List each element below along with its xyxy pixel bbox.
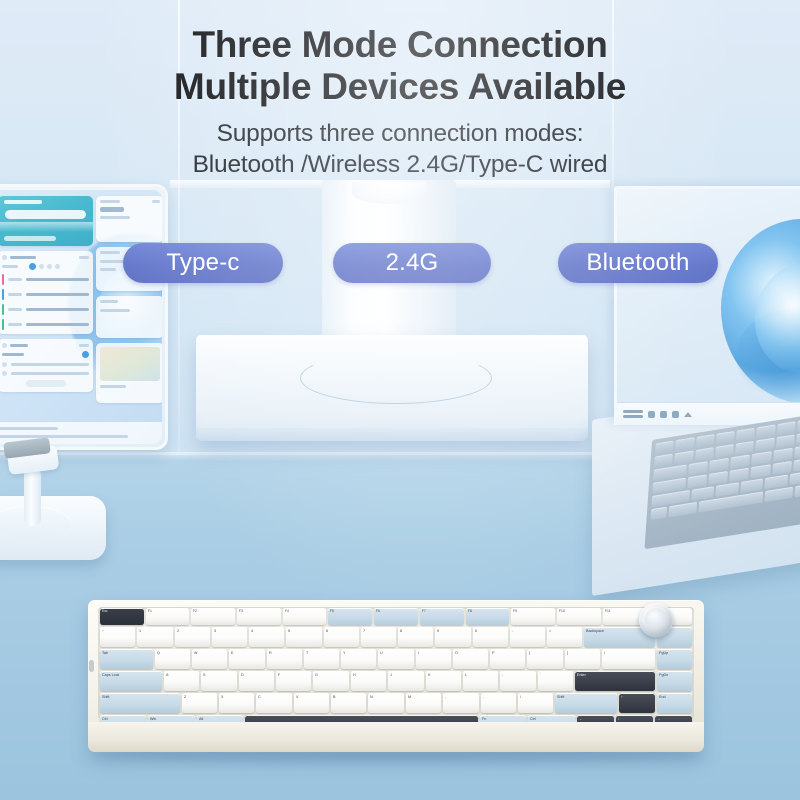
todo-item[interactable] [2, 362, 89, 367]
widget-search-image [0, 222, 93, 232]
chevron-up-icon[interactable] [684, 412, 692, 417]
keyboard-row-number-row: ~1234567890-=BackspaceDelet [100, 627, 692, 647]
widget-calendar-more[interactable] [79, 256, 89, 259]
key-f5[interactable]: F5 [328, 608, 372, 625]
key-legend: L [465, 673, 467, 677]
key-m[interactable]: M [406, 693, 441, 713]
tablet-device [0, 184, 168, 450]
key-legend: 3 [214, 629, 216, 633]
key-shift[interactable]: Shift [555, 693, 617, 713]
key-legend: Enter [577, 673, 586, 677]
key-legend: K [428, 673, 430, 677]
key-legend: 5 [288, 629, 290, 633]
key-f4[interactable]: F4 [283, 608, 327, 625]
calendar-event[interactable] [2, 304, 89, 315]
monitor-stand-base-ring [300, 352, 492, 404]
key-legend: F6 [376, 610, 380, 613]
key-space[interactable]: ↑ [619, 693, 654, 713]
key-t[interactable]: T [304, 649, 339, 669]
widgets-column-secondary [96, 196, 162, 403]
key-b[interactable]: B [331, 693, 366, 713]
key-legend: = [549, 629, 551, 633]
key-tab[interactable]: Tab [100, 649, 153, 669]
key-z[interactable]: Z [182, 693, 217, 713]
key-k[interactable]: K [426, 671, 461, 691]
keyboard-front-bezel [88, 722, 704, 752]
widget-photo-card[interactable] [96, 343, 162, 403]
tablet-screen [0, 190, 162, 444]
key-space[interactable]: [ [527, 649, 562, 669]
key-legend: ← [579, 717, 583, 721]
key-legend: ↑ [621, 695, 623, 699]
weather-more[interactable] [152, 200, 160, 203]
key-legend: - [512, 629, 513, 633]
key-legend: P [492, 651, 494, 655]
todo-text [11, 363, 89, 366]
key-f[interactable]: F [276, 671, 311, 691]
key-legend: Z [184, 695, 186, 699]
key-shift[interactable]: Shift [100, 693, 180, 713]
key-f8[interactable]: F8 [466, 608, 510, 625]
calendar-event[interactable] [2, 274, 89, 285]
key-legend: PgDn [659, 673, 668, 677]
widget-calendar-header [2, 255, 89, 260]
todo-text [11, 372, 89, 375]
calendar-event[interactable] [2, 319, 89, 330]
subheadline-line-2: Bluetooth /Wireless 2.4G/Type-C wired [0, 149, 800, 180]
key-legend: Y [343, 651, 345, 655]
key-8[interactable]: 8 [398, 627, 433, 647]
widget-weather-card[interactable] [96, 196, 162, 242]
widget-search-card[interactable] [0, 196, 93, 246]
key-legend: O [455, 651, 458, 655]
key-legend: F [278, 673, 280, 677]
widget-todo-more[interactable] [79, 344, 89, 347]
widget-search-footer [4, 236, 56, 241]
key-space[interactable]: ; [500, 671, 535, 691]
key-legend: 0 [475, 629, 477, 633]
key-j[interactable]: J [388, 671, 423, 691]
key-legend: F11 [605, 610, 610, 613]
todo-list-name [2, 353, 24, 356]
key-x[interactable]: X [219, 693, 254, 713]
widget-traffic-card[interactable] [96, 296, 162, 338]
calendar-day[interactable] [47, 264, 52, 269]
weather-condition [100, 216, 130, 219]
key-legend: U [380, 651, 383, 655]
sports-title [100, 251, 120, 254]
key-space[interactable]: . [481, 693, 516, 713]
key-legend: W [194, 651, 197, 655]
key-c[interactable]: C [256, 693, 291, 713]
event-color-bar [2, 304, 4, 315]
key-space[interactable]: ~ [100, 627, 135, 647]
key-l[interactable]: L [463, 671, 498, 691]
todo-item[interactable] [2, 371, 89, 376]
event-title [26, 308, 89, 311]
key-legend: V [296, 695, 298, 699]
taskbar-clock[interactable] [623, 410, 643, 418]
key-f3[interactable]: F3 [237, 608, 281, 625]
key-f1[interactable]: F1 [146, 608, 190, 625]
key-pgup[interactable]: PgUp [657, 649, 692, 669]
key-legend: \ [604, 651, 605, 655]
todo-list-header [2, 351, 89, 358]
traffic-title [100, 300, 118, 303]
key-space[interactable]: - [510, 627, 545, 647]
key-g[interactable]: G [313, 671, 348, 691]
news-subline [0, 435, 128, 438]
key-legend: ~ [102, 629, 104, 633]
subheadline-line-1: Supports three connection modes: [217, 120, 584, 147]
key-legend: → [657, 717, 661, 721]
event-time [8, 293, 22, 296]
widget-calendar-title [10, 256, 36, 259]
key-7[interactable]: 7 [361, 627, 396, 647]
widget-calendar-card[interactable] [0, 251, 93, 334]
widget-todo-title [10, 344, 28, 347]
key-9[interactable]: 9 [435, 627, 470, 647]
key-legend: Ctrl [102, 717, 108, 721]
key-legend: Q [157, 651, 160, 655]
key-y[interactable]: Y [341, 649, 376, 669]
event-title [26, 293, 89, 296]
key-legend: F2 [193, 610, 197, 613]
key-legend: F8 [468, 610, 472, 613]
calendar-day[interactable] [39, 264, 44, 269]
key-legend: 9 [437, 629, 439, 633]
key-w[interactable]: W [192, 649, 227, 669]
key-space[interactable]: ] [565, 649, 600, 669]
news-headline [0, 427, 58, 430]
key-space[interactable]: ' [538, 671, 573, 691]
add-widgets-button[interactable] [26, 380, 66, 387]
key-legend: J [390, 673, 392, 677]
monitor-stand-column-highlight [352, 182, 426, 204]
keyboard-row-qwerty-row: TabQWERTYUIOP[]\PgUp [100, 649, 692, 669]
key-p[interactable]: P [490, 649, 525, 669]
volume-icon[interactable] [660, 411, 667, 418]
event-color-bar [2, 274, 4, 285]
key-legend: F9 [513, 610, 517, 613]
sports-line [100, 268, 116, 271]
widget-todo-card[interactable] [0, 339, 93, 392]
key-v[interactable]: V [294, 693, 329, 713]
key-o[interactable]: O [453, 649, 488, 669]
todo-add-button[interactable] [82, 351, 89, 358]
key-legend: H [353, 673, 356, 677]
key-legend: F1 [148, 610, 152, 613]
calendar-month-label [2, 265, 18, 268]
key-q[interactable]: Q [155, 649, 190, 669]
key-a[interactable]: A [164, 671, 199, 691]
key-legend: ↓ [618, 717, 620, 721]
key-space[interactable]: \ [602, 649, 655, 669]
key-u[interactable]: U [378, 649, 413, 669]
key-e[interactable]: E [229, 649, 264, 669]
weather-location [100, 200, 120, 203]
badge-2-4g[interactable]: 2.4G [333, 243, 491, 283]
keyboard-keys[interactable]: EscF1F2F3F4F5F6F7F8F9F10F11F12~123456789… [100, 608, 692, 718]
key-f9[interactable]: F9 [511, 608, 555, 625]
key-r[interactable]: R [267, 649, 302, 669]
key-pgdn[interactable]: PgDn [657, 671, 692, 691]
key-legend: / [520, 695, 521, 699]
key-legend: F10 [559, 610, 565, 613]
key-f6[interactable]: F6 [374, 608, 418, 625]
event-color-bar [2, 289, 4, 300]
headline-line-1: Three Mode Connection [192, 24, 607, 65]
badge-type-c[interactable]: Type-c [123, 243, 283, 283]
key-legend: A [166, 673, 168, 677]
event-time [8, 323, 22, 326]
key-legend: D [241, 673, 244, 677]
key-legend: ' [540, 673, 541, 677]
key-h[interactable]: H [351, 671, 386, 691]
key-legend: Backspace [586, 629, 604, 633]
key-legend: , [445, 695, 446, 699]
todo-checkbox[interactable] [2, 362, 7, 367]
key-legend: ] [567, 651, 568, 655]
key-legend: G [315, 673, 318, 677]
key-legend: Caps Lock [102, 673, 119, 677]
key-legend: F7 [422, 610, 426, 613]
key-5[interactable]: 5 [286, 627, 321, 647]
key-legend: Tab [102, 651, 108, 655]
key-legend: Fn [482, 717, 486, 721]
key-legend: Shift [102, 695, 109, 699]
page-subtitle: Supports three connection modes: Bluetoo… [0, 118, 800, 181]
wifi-icon[interactable] [672, 411, 679, 418]
keyboard-row-function-row: EscF1F2F3F4F5F6F7F8F9F10F11F12 [100, 608, 692, 625]
key-legend: 4 [251, 629, 253, 633]
key-legend: 1 [139, 629, 141, 633]
calendar-icon [2, 255, 7, 260]
calendar-event[interactable] [2, 289, 89, 300]
widget-search-title [4, 200, 42, 204]
key-caps-lock[interactable]: Caps Lock [100, 671, 162, 691]
key-legend: C [258, 695, 261, 699]
key-legend: Win [150, 717, 156, 721]
key-legend: End [659, 695, 666, 699]
key-2[interactable]: 2 [175, 627, 210, 647]
key-s[interactable]: S [201, 671, 236, 691]
key-legend: PgUp [659, 651, 668, 655]
key-legend: Ctrl [530, 717, 536, 721]
event-title [26, 323, 89, 326]
weather-temperature [100, 207, 124, 212]
key-legend: 8 [400, 629, 402, 633]
key-legend: R [269, 651, 272, 655]
product-marketing-image: EscF1F2F3F4F5F6F7F8F9F10F11F12~123456789… [0, 0, 800, 800]
key-space[interactable]: / [518, 693, 553, 713]
widgets-column-primary [0, 196, 93, 392]
key-f7[interactable]: F7 [420, 608, 464, 625]
event-title [26, 278, 89, 281]
key-n[interactable]: N [368, 693, 403, 713]
key-d[interactable]: D [239, 671, 274, 691]
calendar-day-selected[interactable] [29, 263, 36, 270]
traffic-line [100, 309, 130, 312]
key-legend: I [418, 651, 419, 655]
event-color-bar [2, 319, 4, 330]
event-time [8, 308, 22, 311]
key-legend: Esc [102, 610, 108, 613]
photo-thumbnail [100, 347, 160, 381]
key-legend: F4 [285, 610, 289, 613]
key-0[interactable]: 0 [473, 627, 508, 647]
key-4[interactable]: 4 [249, 627, 284, 647]
key-legend: Shift [557, 695, 564, 699]
calendar-day[interactable] [55, 264, 60, 269]
key-6[interactable]: 6 [324, 627, 359, 647]
key-i[interactable]: I [416, 649, 451, 669]
volume-knob-inner[interactable] [645, 608, 667, 630]
key-legend: M [408, 695, 411, 699]
key-legend: 2 [177, 629, 179, 633]
headline-line-2: Multiple Devices Available [0, 66, 800, 108]
key-3[interactable]: 3 [212, 627, 247, 647]
key-legend: 6 [326, 629, 328, 633]
keyboard-side-port [89, 660, 94, 672]
check-icon [2, 343, 7, 348]
key-legend: N [370, 695, 373, 699]
keyboard-row-shift-row: ShiftZXCVBNM,./Shift↑End [100, 693, 692, 713]
key-esc[interactable]: Esc [100, 608, 144, 625]
key-enter[interactable]: Enter [575, 671, 655, 691]
key-f10[interactable]: F10 [557, 608, 601, 625]
key-legend: F3 [239, 610, 243, 613]
key-legend: F5 [330, 610, 334, 613]
key-legend: Alt [199, 717, 203, 721]
key-legend: 7 [363, 629, 365, 633]
widget-weather-header [100, 200, 160, 203]
key-legend: B [333, 695, 335, 699]
widget-todo-header [2, 343, 89, 348]
widget-calendar-daystrip [2, 263, 89, 270]
key-legend: T [306, 651, 308, 655]
monitor-stand-base-front [196, 428, 588, 441]
widget-search-input[interactable] [5, 210, 86, 219]
key-1[interactable]: 1 [137, 627, 172, 647]
todo-checkbox[interactable] [2, 371, 7, 376]
tablet-stand-neck [24, 468, 41, 526]
key-space[interactable]: , [443, 693, 478, 713]
key-f2[interactable]: F2 [191, 608, 235, 625]
keyboard-row-home-row: Caps LockASDFGHJKL;'EnterPgDn [100, 671, 692, 691]
page-title: Three Mode Connection Multiple Devices A… [0, 24, 800, 108]
key-end[interactable]: End [657, 693, 692, 713]
key-legend: . [483, 695, 484, 699]
key-legend: [ [529, 651, 530, 655]
event-time [8, 278, 22, 281]
photo-caption [100, 385, 126, 388]
key-legend: X [221, 695, 223, 699]
badge-bluetooth[interactable]: Bluetooth [558, 243, 718, 283]
battery-icon[interactable] [648, 411, 655, 418]
key-legend: S [203, 673, 205, 677]
key-legend: E [231, 651, 233, 655]
key-space[interactable]: = [547, 627, 582, 647]
laptop-screen [614, 186, 800, 425]
key-legend: ; [502, 673, 503, 677]
